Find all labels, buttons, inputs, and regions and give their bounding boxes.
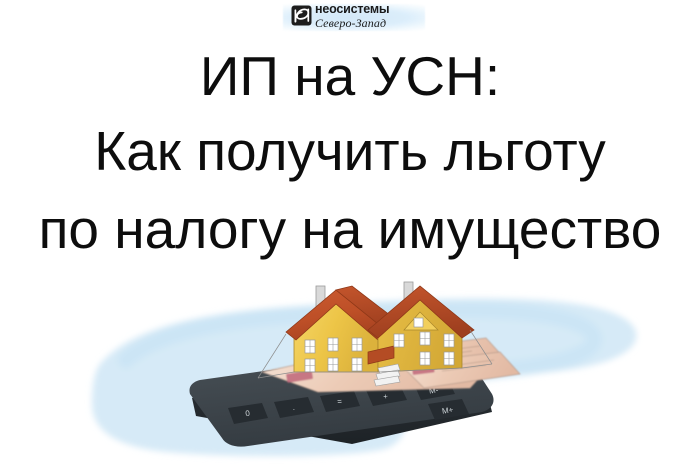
page-title: ИП на УСН: Как получить льготу по налогу… <box>0 40 700 268</box>
neosystems-spiral-mark-icon <box>291 5 312 26</box>
logo-region-name: Северо-Запад <box>315 17 389 29</box>
svg-text:M+: M+ <box>441 405 454 416</box>
logo-content: неосистемы Северо-Запад <box>291 3 389 29</box>
brand-logo: неосистемы Северо-Запад <box>283 1 425 34</box>
headline-line-2: Как получить льготу <box>0 112 700 190</box>
headline-line-3: по налогу на имущество <box>0 190 700 268</box>
poster-canvas: неосистемы Северо-Запад ИП на УСН: Как п… <box>0 0 700 466</box>
attic-window <box>414 318 423 327</box>
logo-wordmark: неосистемы Северо-Запад <box>315 3 389 29</box>
headline-line-1: ИП на УСН: <box>0 40 700 112</box>
logo-company-name: неосистемы <box>315 3 389 16</box>
house-calculator-illustration: 0 . = + M- <box>0 268 700 466</box>
